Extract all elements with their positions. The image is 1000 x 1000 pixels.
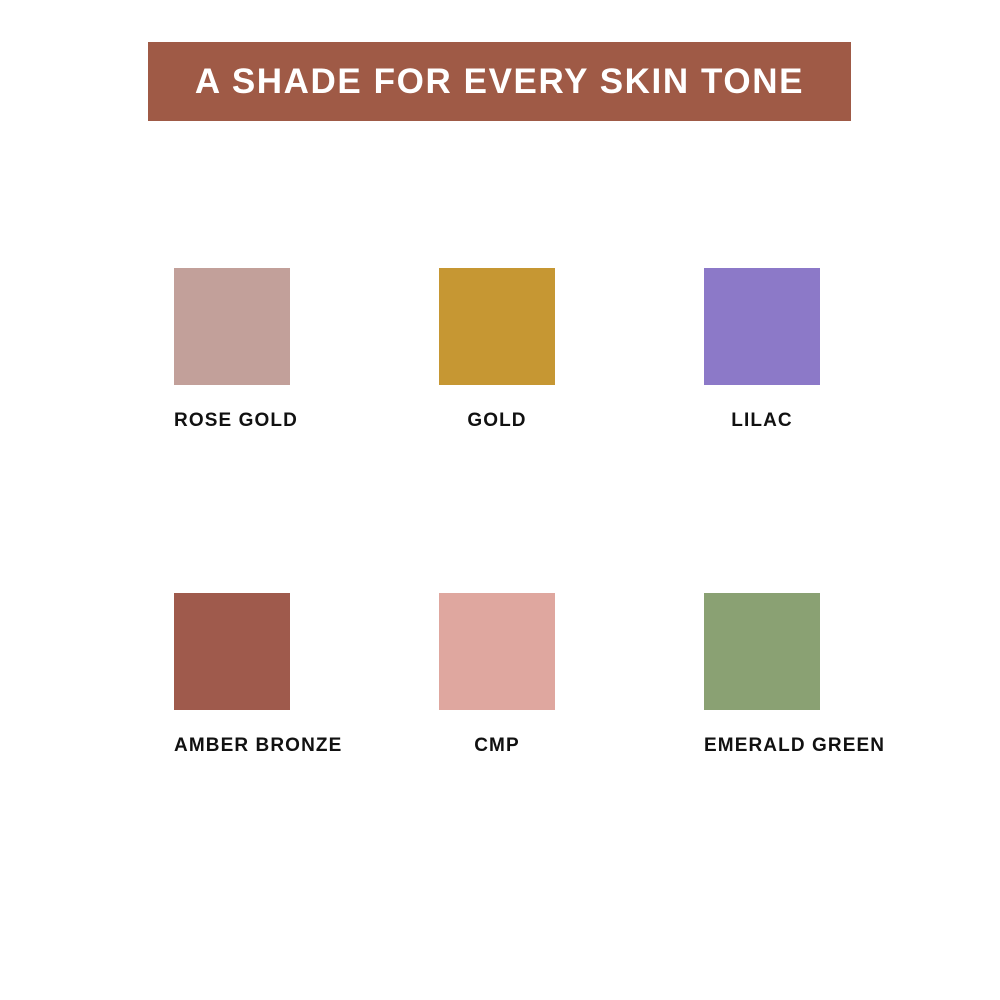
swatch-cell-rose-gold[interactable]: ROSE GOLD [174,268,439,430]
swatch-cell-amber-bronze[interactable]: AMBER BRONZE [174,593,439,755]
swatch-chip-lilac[interactable] [704,268,820,385]
swatch-label-gold: GOLD [439,411,555,430]
swatch-cell-lilac[interactable]: LILAC [704,268,876,430]
swatch-cell-cmp[interactable]: CMP [439,593,704,755]
swatch-label-cmp: CMP [439,736,555,755]
swatch-chip-rose-gold[interactable] [174,268,290,385]
swatch-grid: ROSE GOLD GOLD LILAC AMBER BRONZE CMP [174,268,876,755]
swatch-row: AMBER BRONZE CMP EMERALD GREEN [174,593,876,755]
swatch-chip-gold[interactable] [439,268,555,385]
header-banner: A SHADE FOR EVERY SKIN TONE [148,42,851,121]
shade-chart-page: A SHADE FOR EVERY SKIN TONE ROSE GOLD GO… [0,0,1000,1000]
swatch-cell-gold[interactable]: GOLD [439,268,704,430]
swatch-chip-cmp[interactable] [439,593,555,710]
swatch-label-rose-gold: ROSE GOLD [174,411,290,430]
swatch-chip-emerald-green[interactable] [704,593,820,710]
swatch-chip-amber-bronze[interactable] [174,593,290,710]
swatch-cell-emerald-green[interactable]: EMERALD GREEN [704,593,876,755]
swatch-label-amber-bronze: AMBER BRONZE [174,736,290,755]
row-spacer [174,430,876,593]
page-title: A SHADE FOR EVERY SKIN TONE [195,64,804,99]
swatch-row: ROSE GOLD GOLD LILAC [174,268,876,430]
swatch-label-lilac: LILAC [704,411,820,430]
swatch-label-emerald-green: EMERALD GREEN [704,736,820,755]
